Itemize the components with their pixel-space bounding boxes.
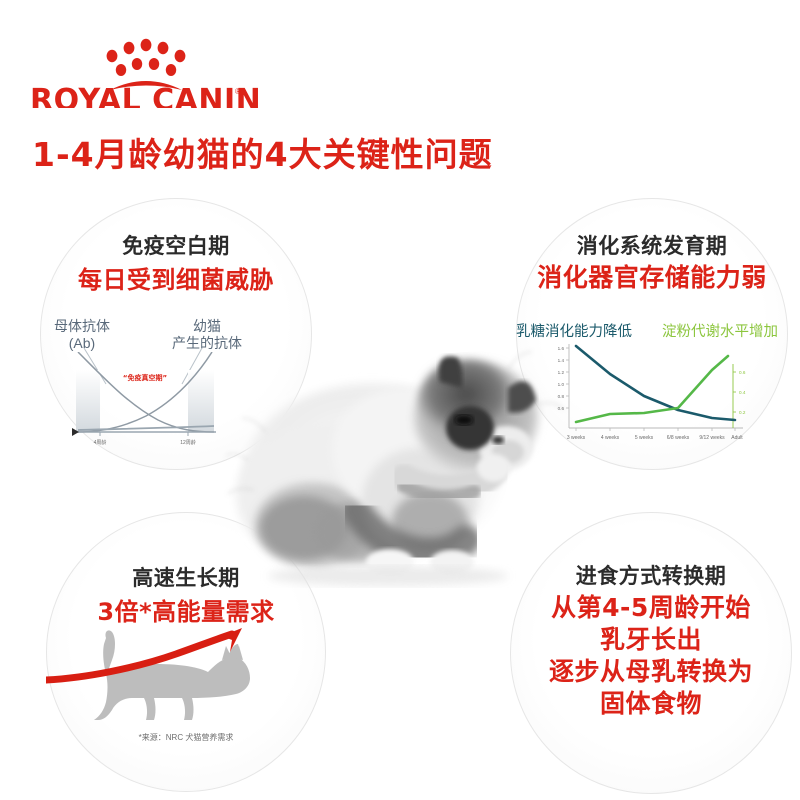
- crown-icon: ROYAL CANIN ®: [30, 28, 260, 108]
- digestive-enzyme-chart: 1.6 1.4 1.2 1.0 0.8 0.6 0.6 0.4 0.2: [545, 340, 760, 448]
- page-title: 1-4月龄幼猫的4大关键性问题: [32, 128, 493, 176]
- svg-text:Adult: Adult: [731, 435, 743, 441]
- svg-text:9/12 weeks: 9/12 weeks: [699, 435, 725, 441]
- immunity-heading: 免疫空白期: [40, 230, 312, 260]
- growth-footnote: *来源：NRC 犬猫营养需求: [46, 732, 326, 743]
- svg-text:0.8: 0.8: [558, 394, 565, 399]
- svg-text:5 weeks: 5 weeks: [635, 435, 654, 441]
- immunity-gap-annotation: “免疫真空期”: [123, 373, 167, 382]
- svg-text:1.4: 1.4: [558, 358, 565, 363]
- immunity-x-tick-2: 12周龄: [180, 439, 196, 446]
- immunity-subheading: 每日受到细菌威胁: [24, 260, 328, 295]
- feeding-line-4: 固体食物: [500, 684, 800, 720]
- svg-text:0.2: 0.2: [739, 410, 746, 415]
- growth-illustration: [46, 620, 336, 730]
- digestion-subheading: 消化器官存储能力弱: [496, 258, 800, 294]
- legend-starch-label: 淀粉代谢水平增加: [662, 320, 778, 341]
- svg-text:0.6: 0.6: [739, 370, 746, 375]
- svg-text:0.4: 0.4: [739, 390, 746, 395]
- label-maternal-antibody: 母体抗体 (Ab): [34, 318, 130, 352]
- svg-text:6/8 weeks: 6/8 weeks: [667, 435, 690, 441]
- label-maternal-antibody-line1: 母体抗体: [34, 318, 130, 335]
- label-kitten-antibody-line1: 幼猫: [158, 318, 256, 335]
- feeding-line-2: 乳牙长出: [500, 620, 800, 656]
- svg-text:3 weeks: 3 weeks: [567, 435, 586, 441]
- immunity-x-tick-1: 4周龄: [94, 439, 107, 446]
- svg-text:4 weeks: 4 weeks: [601, 435, 620, 441]
- feeding-line-3: 逐步从母乳转换为: [500, 652, 800, 688]
- svg-text:0.6: 0.6: [558, 406, 565, 411]
- digestion-heading: 消化系统发育期: [516, 230, 788, 260]
- feeding-heading: 进食方式转换期: [510, 560, 792, 590]
- svg-text:1.6: 1.6: [558, 346, 565, 351]
- label-kitten-antibody: 幼猫 产生的抗体: [158, 318, 256, 352]
- series-lactose: [576, 346, 735, 420]
- trademark-symbol: ®: [235, 87, 241, 96]
- feeding-line-1: 从第4-5周龄开始: [500, 588, 800, 624]
- immunity-gap-chart: “免疫真空期” 4周龄 12周龄: [70, 352, 220, 448]
- poster-root: ROYAL CANIN ® 1-4月龄幼猫的4大关键性问题: [0, 0, 800, 800]
- royal-canin-logo: ROYAL CANIN ®: [30, 28, 260, 108]
- growth-heading: 高速生长期: [46, 562, 326, 592]
- cat-silhouette-icon: [94, 630, 250, 720]
- brand-wordmark: ROYAL CANIN: [30, 83, 260, 108]
- svg-text:1.2: 1.2: [558, 370, 565, 375]
- legend-lactose-label: 乳糖消化能力降低: [516, 320, 632, 341]
- svg-text:1.0: 1.0: [558, 382, 565, 387]
